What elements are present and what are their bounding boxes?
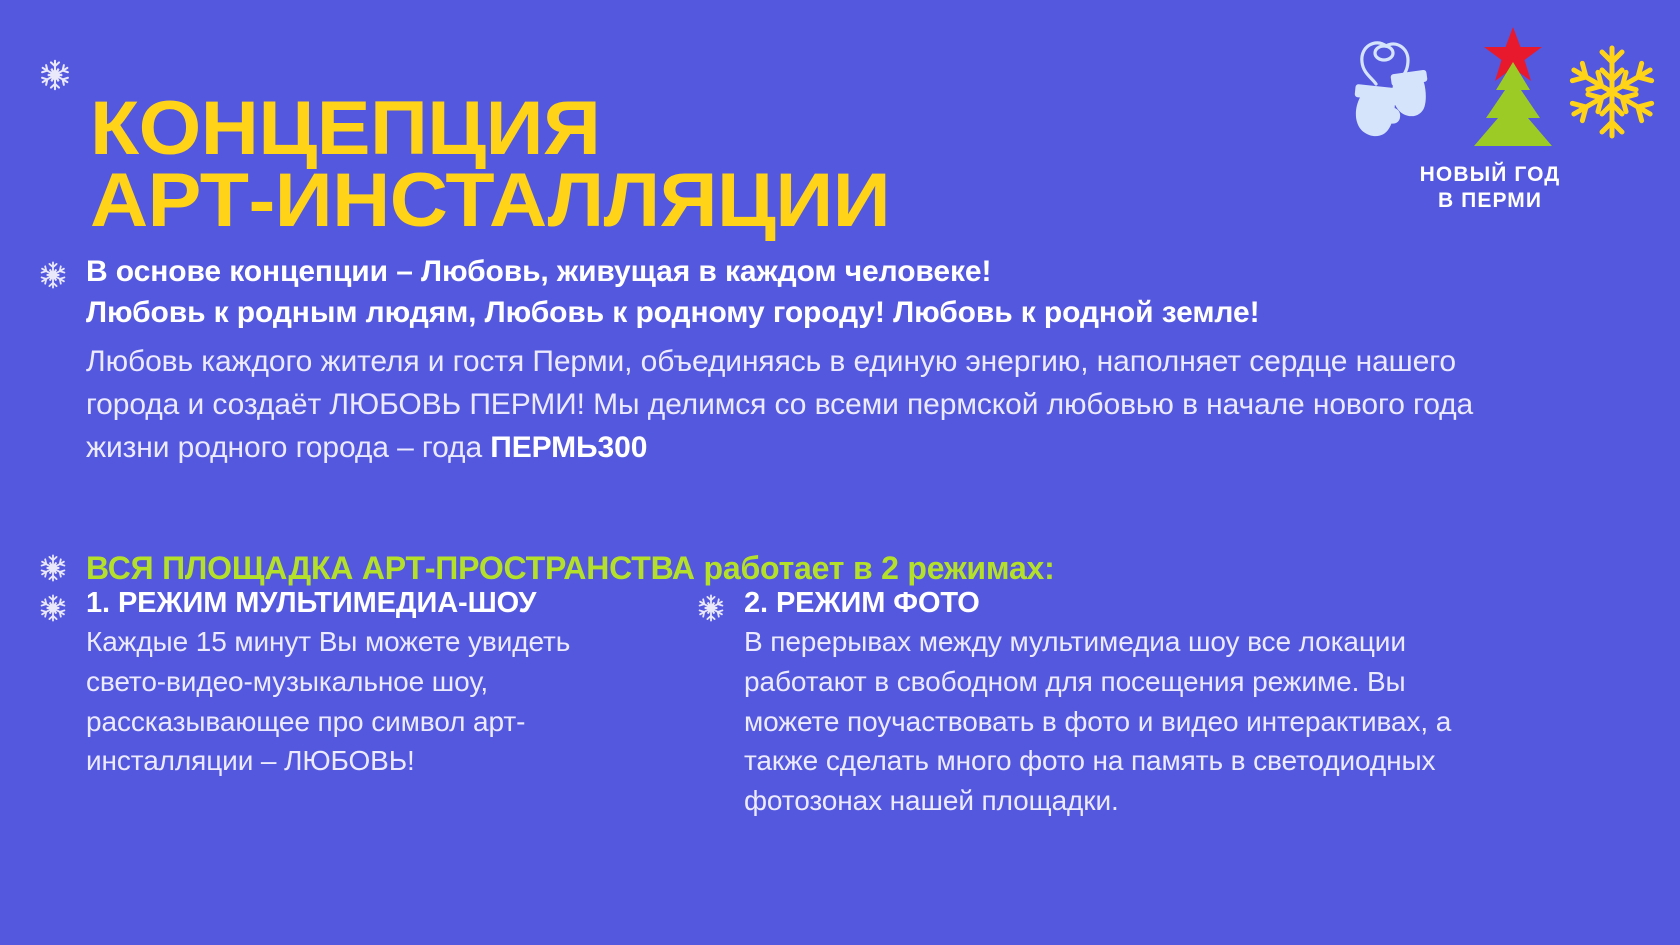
mode-column-1: 1. РЕЖИМ МУЛЬТИМЕДИА-ШОУ Каждые 15 минут… [38,586,678,821]
mode-2-body: 2. РЕЖИМ ФОТО В перерывах между мультиме… [744,586,1504,821]
mittens-icon [1342,28,1462,153]
perm300-label: ПЕРМЬ300 [490,431,647,464]
snowflake-icon [1562,42,1662,147]
logo-caption: НОВЫЙ ГОД В ПЕРМИ [1340,162,1640,213]
snowflake-bullet-icon [38,58,72,92]
intro-body: В основе концепции – Любовь, живущая в к… [86,252,1526,499]
mode-2-heading: 2. РЕЖИМ ФОТО [744,586,1504,620]
page-title-line2: АРТ-ИНСТАЛЛЯЦИИ [90,158,890,243]
logo-artwork [1340,20,1640,160]
modes-columns: 1. РЕЖИМ МУЛЬТИМЕДИА-ШОУ Каждые 15 минут… [38,586,1638,821]
modes-heading-upper: ВСЯ ПЛОЩАДКА АРТ-ПРОСТРАНСТВА [86,550,695,586]
logo-caption-line1: НОВЫЙ ГОД [1340,162,1640,188]
snowflake-bullet-icon [38,260,68,290]
mode-2-text: В перерывах между мультимедиа шоу все ло… [744,622,1504,821]
page-title: КОНЦЕПЦИЯАРТ-ИНСТАЛЛЯЦИИ [90,93,890,237]
intro-block: В основе концепции – Любовь, живущая в к… [38,252,1538,499]
snowflake-bullet-icon [38,553,68,583]
modes-heading: ВСЯ ПЛОЩАДКА АРТ-ПРОСТРАНСТВА работает в… [86,549,1055,587]
christmas-tree-icon [1468,22,1558,162]
mode-1-text: Каждые 15 минут Вы можете увидеть свето-… [86,622,646,781]
mode-1-heading: 1. РЕЖИМ МУЛЬТИМЕДИА-ШОУ [86,586,646,620]
intro-strong: В основе концепции – Любовь, живущая в к… [86,252,1526,334]
intro-strong-line2: Любовь к родным людям, Любовь к родному … [86,293,1526,334]
slide: НОВЫЙ ГОД В ПЕРМИ [0,0,1680,945]
snowflake-bullet-icon [696,593,726,623]
intro-paragraph: Любовь каждого жителя и гостя Перми, объ… [86,340,1526,470]
new-year-perm-logo: НОВЫЙ ГОД В ПЕРМИ [1340,20,1640,235]
snowflake-bullet-icon [38,593,68,623]
mode-1-body: 1. РЕЖИМ МУЛЬТИМЕДИА-ШОУ Каждые 15 минут… [86,586,646,781]
intro-paragraph-text: Любовь каждого жителя и гостя Перми, объ… [86,345,1473,464]
modes-heading-tail: работает в 2 режимах: [695,550,1055,586]
intro-strong-line1: В основе концепции – Любовь, живущая в к… [86,252,1526,293]
logo-caption-line2: В ПЕРМИ [1340,188,1640,214]
mode-column-2: 2. РЕЖИМ ФОТО В перерывах между мультиме… [696,586,1516,821]
